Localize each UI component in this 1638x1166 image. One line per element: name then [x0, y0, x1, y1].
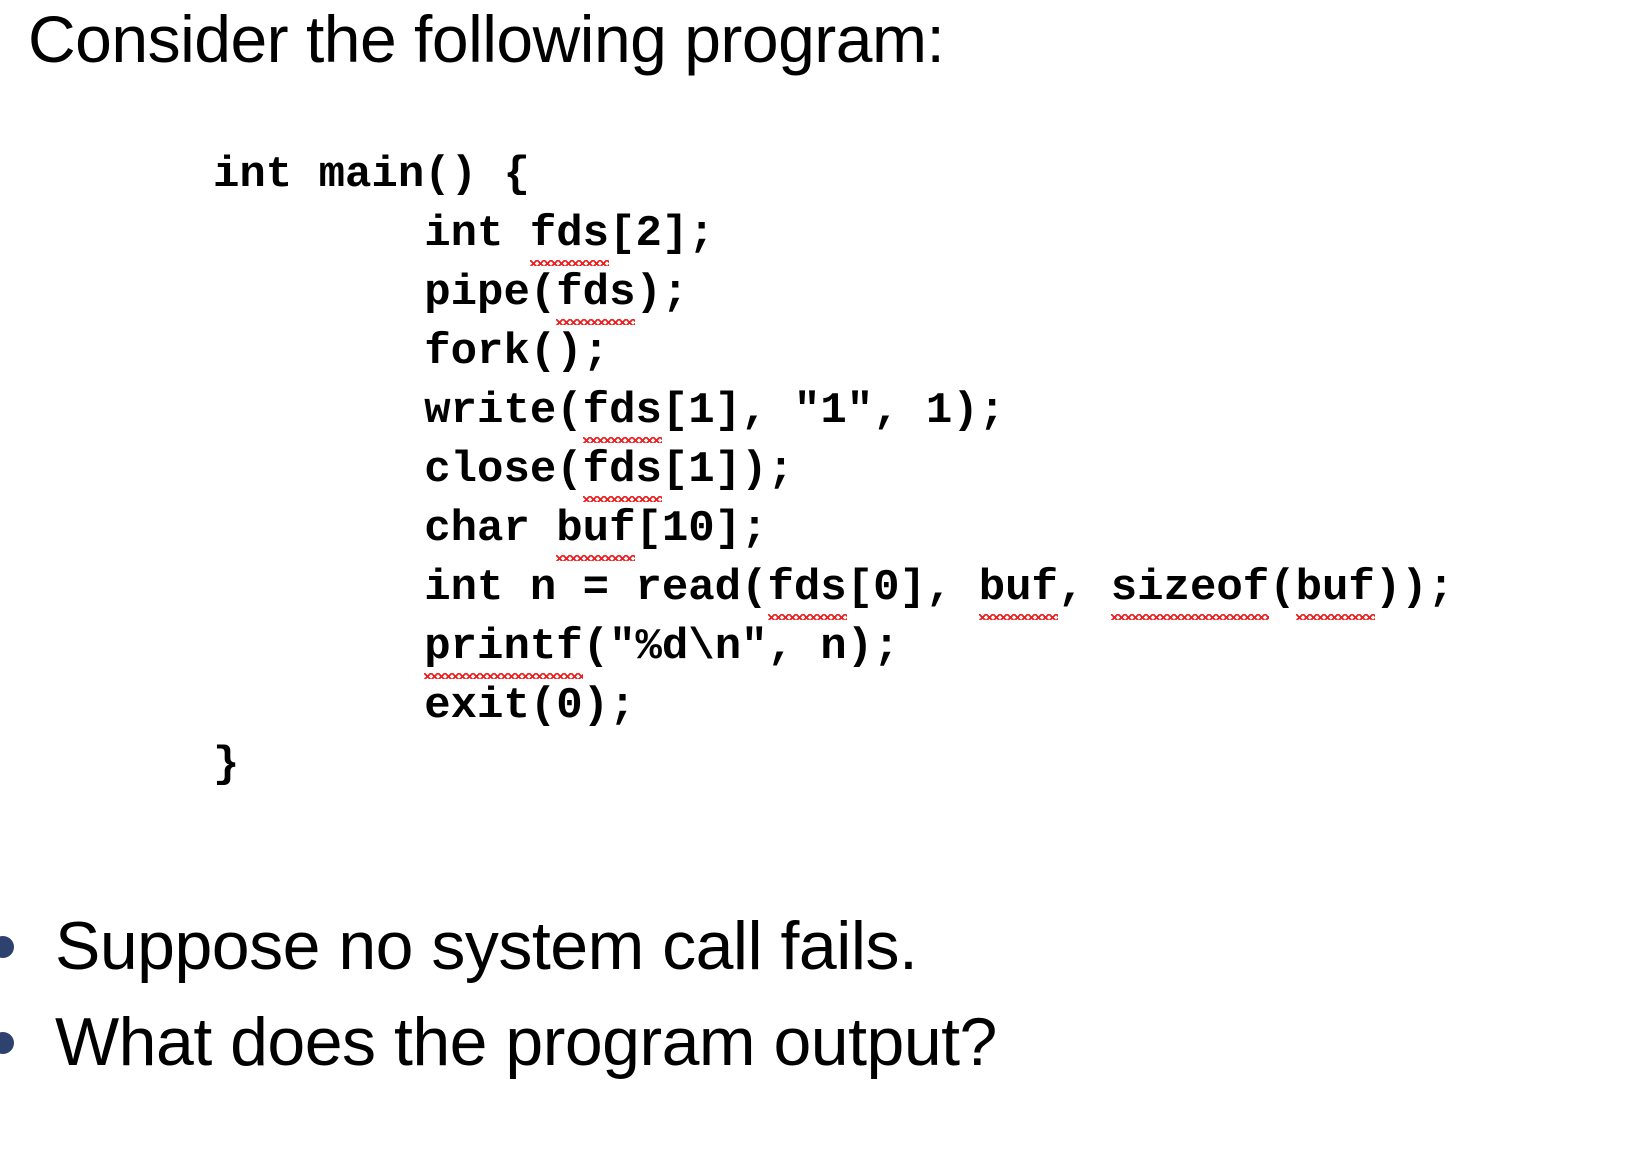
code-line: int main() { — [213, 146, 1454, 205]
code-line: close(fds[1]); — [213, 441, 1454, 500]
bullet-dot-icon — [0, 936, 14, 958]
bullet-item: Suppose no system call fails. — [0, 898, 1638, 994]
code-indent — [213, 445, 424, 495]
code-indent — [213, 504, 424, 554]
code-token: int main() { — [213, 150, 530, 200]
misspelled-token: fds — [556, 264, 635, 323]
code-indent — [213, 327, 424, 377]
code-line: } — [213, 736, 1454, 795]
code-line: int fds[2]; — [213, 205, 1454, 264]
code-line: pipe(fds); — [213, 264, 1454, 323]
misspelled-token: fds — [768, 559, 847, 618]
code-block: int main() { int fds[2]; pipe(fds); fork… — [213, 146, 1454, 795]
code-line: printf("%d\n", n); — [213, 618, 1454, 677]
code-indent — [213, 563, 424, 613]
code-token: ("%d\n", n); — [583, 622, 900, 672]
code-line: fork(); — [213, 323, 1454, 382]
misspelled-token: fds — [583, 441, 662, 500]
misspelled-token: buf — [1296, 559, 1375, 618]
code-token: int — [424, 209, 530, 259]
code-token: [1]); — [662, 445, 794, 495]
code-token: , — [1058, 563, 1111, 613]
code-indent — [213, 209, 424, 259]
code-token: write( — [424, 386, 582, 436]
code-indent — [213, 622, 424, 672]
code-token: fork(); — [424, 327, 609, 377]
code-token: [0], — [847, 563, 979, 613]
code-indent — [213, 386, 424, 436]
code-token: [2]; — [609, 209, 715, 259]
misspelled-token: fds — [583, 382, 662, 441]
bullet-item: What does the program output? — [0, 994, 1638, 1090]
code-token: )); — [1375, 563, 1454, 613]
bullet-label: Suppose no system call fails. — [55, 898, 917, 994]
code-token: close( — [424, 445, 582, 495]
code-token: char — [424, 504, 556, 554]
code-indent — [213, 268, 424, 318]
code-line: char buf[10]; — [213, 500, 1454, 559]
bullet-list: Suppose no system call fails.What does t… — [0, 898, 1638, 1090]
code-token: ( — [1269, 563, 1295, 613]
misspelled-token: buf — [979, 559, 1058, 618]
bullet-dot-icon — [0, 1032, 14, 1054]
code-token: [10]; — [635, 504, 767, 554]
misspelled-token: buf — [556, 500, 635, 559]
slide-root: { "slide": { "title": "Consider the foll… — [0, 0, 1638, 1166]
code-line: exit(0); — [213, 677, 1454, 736]
page-title: Consider the following program: — [28, 4, 944, 75]
code-token: exit(0); — [424, 681, 635, 731]
misspelled-token: fds — [530, 205, 609, 264]
code-line: write(fds[1], "1", 1); — [213, 382, 1454, 441]
bullet-label: What does the program output? — [55, 994, 997, 1090]
code-indent — [213, 681, 424, 731]
code-token: int n = read( — [424, 563, 767, 613]
code-token: [1], "1", 1); — [662, 386, 1005, 436]
code-token: } — [213, 740, 239, 790]
misspelled-token: printf — [424, 618, 582, 677]
code-token: ); — [635, 268, 688, 318]
code-token: pipe( — [424, 268, 556, 318]
code-line: int n = read(fds[0], buf, sizeof(buf)); — [213, 559, 1454, 618]
misspelled-token: sizeof — [1111, 559, 1269, 618]
